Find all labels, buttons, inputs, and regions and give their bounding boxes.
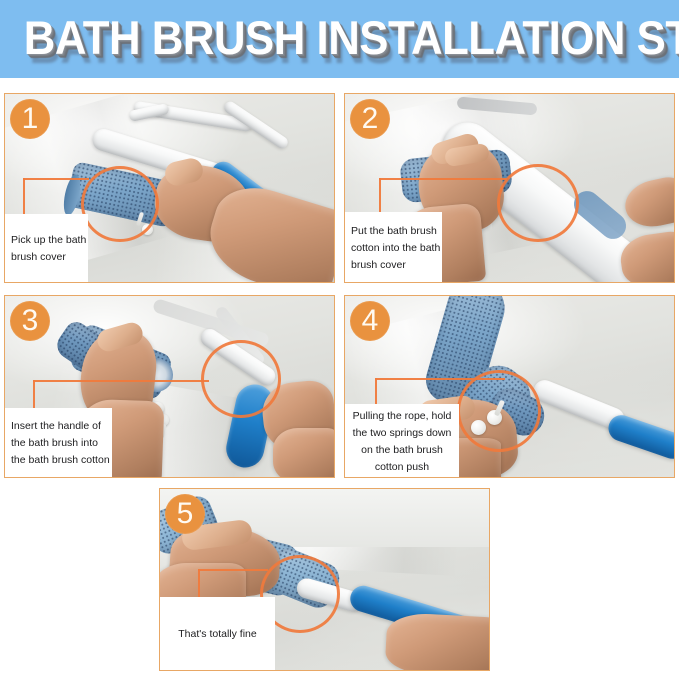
right-forearm <box>273 428 335 478</box>
leader-line-vertical <box>198 569 200 599</box>
infographic-page: BATH BRUSH INSTALLATION STEPS <box>0 0 679 675</box>
step-number-badge-1: 1 <box>10 99 50 139</box>
annotation-circle <box>497 164 579 242</box>
header-banner: BATH BRUSH INSTALLATION STEPS <box>0 0 679 78</box>
step-number-badge-5: 5 <box>165 494 205 534</box>
step-caption-2: Put the bath brush cotton into the bath … <box>345 212 442 283</box>
step-panel-4: 4 Pulling the rope, hold the two springs… <box>344 295 675 478</box>
leader-line-horizontal <box>198 569 268 571</box>
right-hand <box>618 230 675 283</box>
leader-line-horizontal <box>379 178 507 180</box>
page-title: BATH BRUSH INSTALLATION STEPS <box>24 4 655 72</box>
step-caption-3: Insert the handle of the bath brush into… <box>5 408 112 478</box>
step-panel-5: 5 That's totally fine <box>159 488 490 671</box>
leader-line-vertical <box>375 378 377 406</box>
annotation-circle <box>457 370 541 452</box>
annotation-circle <box>201 340 281 418</box>
step-panel-1: 1 Pick up the bath brush cover <box>4 93 335 283</box>
step-caption-4: Pulling the rope, hold the two springs d… <box>345 404 459 478</box>
right-hand-finger <box>621 174 675 232</box>
lower-arm <box>385 612 490 671</box>
brush-handle-blue-grip <box>605 412 675 463</box>
step-number-badge-4: 4 <box>350 301 390 341</box>
step-caption-1: Pick up the bath brush cover <box>5 214 88 283</box>
step-number-badge-2: 2 <box>350 99 390 139</box>
step-panel-2: 2 Put the bath brush cotton into the bat… <box>344 93 675 283</box>
step-caption-5: That's totally fine <box>160 597 275 671</box>
leader-line-horizontal <box>33 380 209 382</box>
annotation-circle <box>81 166 159 242</box>
step-panel-3: 3 Insert the handle of the bath brush in… <box>4 295 335 478</box>
step-number-badge-3: 3 <box>10 301 50 341</box>
leader-line-horizontal <box>23 178 89 180</box>
